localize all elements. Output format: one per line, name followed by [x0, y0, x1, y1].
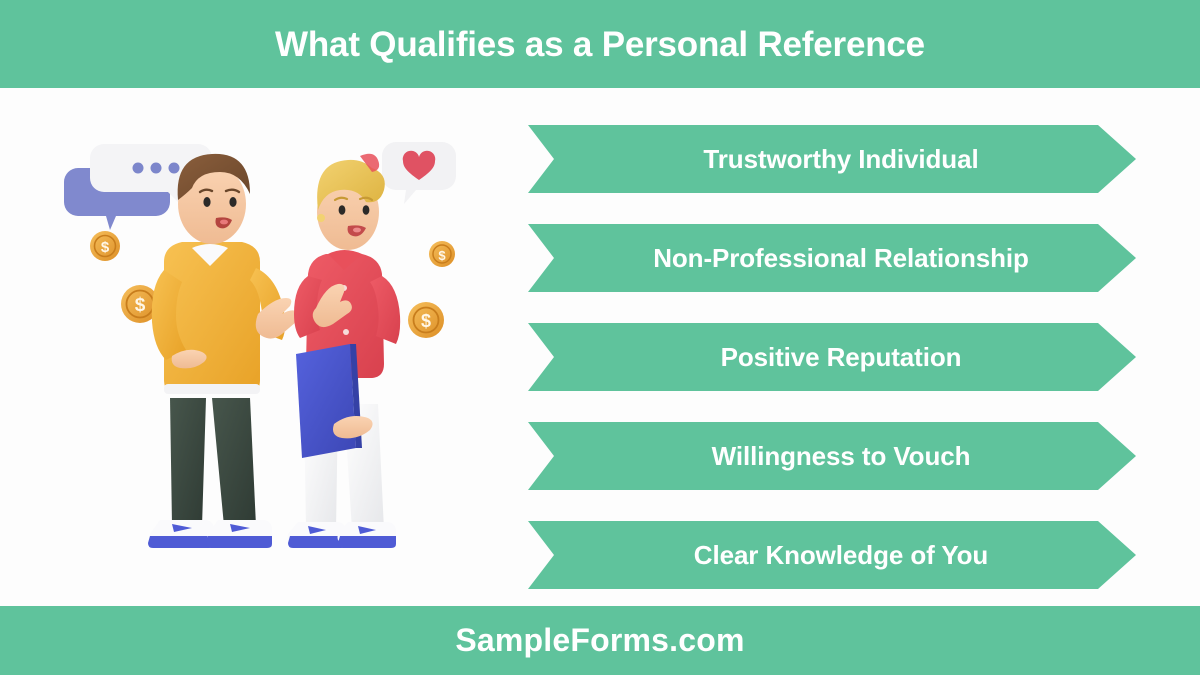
banner-row[interactable]: Positive Reputation — [528, 323, 1136, 391]
blue-folder — [296, 344, 356, 458]
man-right-leg — [212, 398, 256, 526]
man-sweater — [164, 242, 260, 394]
banner-label: Willingness to Vouch — [694, 441, 971, 472]
header-band: What Qualifies as a Personal Reference — [0, 0, 1200, 88]
svg-text:$: $ — [421, 311, 431, 331]
qualification-banner-list: Trustworthy Individual Non-Professional … — [528, 125, 1136, 580]
coin-icon: $ — [408, 302, 444, 338]
coin-icon: $ — [90, 231, 120, 261]
banner-label: Positive Reputation — [703, 342, 962, 373]
page-title: What Qualifies as a Personal Reference — [275, 27, 925, 62]
svg-text:$: $ — [135, 295, 146, 316]
svg-text:$: $ — [101, 239, 110, 256]
heart-bubble-icon — [382, 142, 456, 204]
man-left-shoe — [148, 520, 214, 548]
banner-label: Non-Professional Relationship — [635, 243, 1029, 274]
man-right-shoe — [206, 520, 272, 548]
coin-icon: $ — [429, 241, 455, 267]
woman-right-shoe — [338, 522, 397, 548]
banner-row[interactable]: Trustworthy Individual — [528, 125, 1136, 193]
hero-illustration: $ $ $ $ — [60, 118, 480, 578]
woman-left-shoe — [288, 522, 347, 548]
banner-label: Trustworthy Individual — [685, 144, 978, 175]
banner-label: Clear Knowledge of You — [676, 540, 988, 571]
woman-character — [288, 154, 401, 548]
brand-name: SampleForms.com — [455, 622, 744, 659]
banner-row[interactable]: Clear Knowledge of You — [528, 521, 1136, 589]
banner-row[interactable]: Willingness to Vouch — [528, 422, 1136, 490]
man-left-leg — [170, 398, 206, 526]
banner-row[interactable]: Non-Professional Relationship — [528, 224, 1136, 292]
svg-text:$: $ — [438, 248, 446, 263]
footer-band: SampleForms.com — [0, 606, 1200, 675]
man-character — [148, 154, 300, 548]
